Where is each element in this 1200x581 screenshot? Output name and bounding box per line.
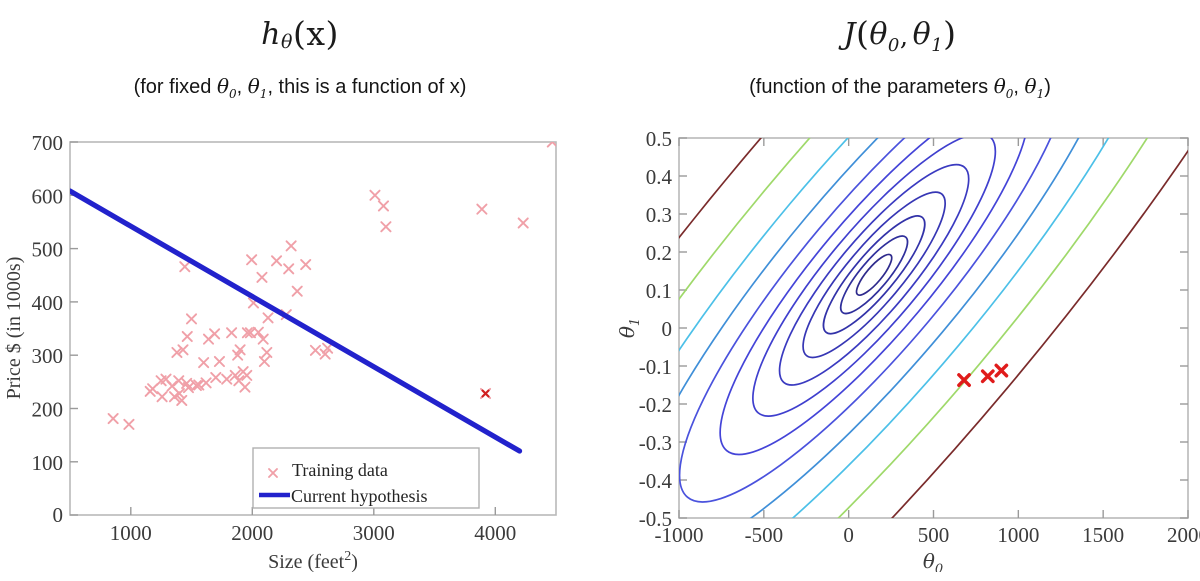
training-data-point: [187, 314, 196, 323]
training-data-point: [370, 191, 379, 200]
left-panel: hθ(x) (for fixed θ0, θ1, this is a funct…: [0, 0, 600, 581]
current-hypothesis-line: [70, 191, 520, 451]
left-ytick-100: 100: [32, 451, 64, 475]
training-data-point: [227, 328, 236, 337]
training-data-point: [477, 205, 486, 214]
left-x-axis: 1000 2000 3000 4000 Size (feet2): [110, 507, 517, 572]
contour-level-8: [633, 112, 1116, 543]
gradient-descent-marker: [983, 371, 993, 381]
training-data-point: [211, 373, 220, 382]
contour-level-9: [600, 112, 1180, 572]
training-data-point: [381, 222, 390, 231]
training-data-point: [215, 357, 224, 366]
left-ytick-400: 400: [32, 291, 64, 315]
gradient-descent-markers: [959, 365, 1007, 385]
right-xtick-1000: 1000: [997, 523, 1039, 547]
training-data-point: [210, 329, 219, 338]
contour-level-3: [810, 204, 937, 345]
left-xtick-2000: 2000: [231, 521, 273, 545]
training-data-point: [240, 383, 249, 392]
training-data-point-highlighted: [483, 391, 489, 397]
right-plot-frame: [679, 138, 1188, 518]
training-data-point: [293, 287, 302, 296]
contour-level-5: [756, 144, 993, 406]
left-xtick-3000: 3000: [353, 521, 395, 545]
left-x-axis-title: Size (feet2): [268, 549, 358, 572]
training-data-point: [263, 313, 272, 322]
left-legend: Training data Current hypothesis: [253, 448, 479, 508]
right-ytick-neg0p4: -0.4: [639, 469, 673, 493]
right-ytick-0p2: 0.2: [646, 241, 672, 265]
left-chart-svg: 700 600 500 400 300 200 100 0 Price $ (i…: [0, 112, 600, 572]
contour-level-6: [723, 112, 1026, 443]
left-title-arg: (x): [293, 14, 339, 53]
right-panel: J(θ0,θ1) (function of the parameters θ0,…: [600, 0, 1200, 581]
legend-label-0: Training data: [292, 460, 388, 480]
training-data-point: [199, 358, 208, 367]
right-plot-data: [600, 112, 1200, 572]
left-ytick-200: 200: [32, 398, 64, 422]
contour-lines: [600, 112, 1200, 572]
training-data-point: [247, 255, 256, 264]
left-panel-subtitle: (for fixed θ0, θ1, this is a function of…: [0, 74, 600, 101]
training-data-point: [262, 348, 271, 357]
left-panel-title: hθ(x): [0, 14, 600, 53]
training-data-point: [272, 256, 281, 265]
left-title-fn: h: [261, 17, 281, 52]
training-data-point: [379, 201, 388, 210]
right-ytick-neg0p1: -0.1: [639, 355, 672, 379]
right-subtitle-tail: ): [1044, 76, 1051, 98]
legend-label-1: Current hypothesis: [291, 486, 428, 506]
right-title-close: ): [943, 14, 956, 53]
right-xtick-neg500: -500: [745, 523, 784, 547]
left-xtick-1000: 1000: [110, 521, 152, 545]
right-subtitle-pre: (function of the parameters: [749, 76, 994, 98]
left-ytick-700: 700: [32, 131, 64, 155]
subtitle-comma: ,: [237, 76, 248, 98]
right-panel-subtitle: (function of the parameters θ0, θ1): [600, 74, 1200, 101]
right-y-axis-title: θ1: [615, 318, 643, 338]
training-data-point: [519, 218, 528, 227]
training-data-points: [109, 137, 557, 429]
left-subtitle-pre: (for fixed: [134, 76, 217, 98]
right-xtick-500: 500: [918, 523, 950, 547]
training-data-point: [222, 375, 231, 384]
training-data-point: [183, 332, 192, 341]
right-x-axis-title: θ0: [923, 549, 943, 572]
right-title-fn: J: [843, 17, 856, 52]
right-xtick-neg1000: -1000: [655, 523, 704, 547]
training-data-point: [260, 357, 269, 366]
training-data-point: [301, 260, 310, 269]
left-y-axis-title: Price $ (in 1000s): [3, 257, 25, 400]
left-ytick-600: 600: [32, 184, 64, 208]
training-data-point: [157, 392, 166, 401]
right-ytick-0p3: 0.3: [646, 203, 672, 227]
gradient-descent-marker: [959, 375, 969, 385]
right-ytick-neg0p2: -0.2: [639, 393, 672, 417]
training-data-point: [124, 420, 133, 429]
gradient-descent-marker: [996, 365, 1006, 375]
left-ytick-0: 0: [53, 503, 64, 527]
right-ytick-0: 0: [662, 317, 673, 341]
left-ytick-500: 500: [32, 238, 64, 262]
right-ytick-0p1: 0.1: [646, 279, 672, 303]
right-title-t1: θ1: [913, 17, 944, 52]
right-subtitle-comma: ,: [1013, 76, 1024, 98]
left-subtitle-mid: , this is a function of x): [267, 76, 466, 98]
training-data-point: [311, 346, 320, 355]
right-title-comma: ,: [900, 22, 909, 52]
training-data-point: [180, 262, 189, 271]
right-ytick-0p4: 0.4: [646, 165, 673, 189]
training-data-point: [284, 264, 293, 273]
left-xtick-4000: 4000: [474, 521, 516, 545]
theta0-symbol: θ0: [217, 74, 237, 98]
left-y-axis: 700 600 500 400 300 200 100 0 Price $ (i…: [3, 131, 78, 527]
training-data-point: [109, 414, 118, 423]
left-ytick-300: 300: [32, 344, 64, 368]
right-title-t0: θ0: [869, 17, 900, 52]
right-panel-title: J(θ0,θ1): [600, 14, 1200, 56]
training-data-point: [174, 376, 183, 385]
contour-level-1: [852, 250, 897, 299]
right-ytick-neg0p3: -0.3: [639, 431, 672, 455]
right-theta0-symbol: θ0: [994, 74, 1014, 98]
theta1-symbol: θ1: [248, 74, 268, 98]
training-data-point: [257, 273, 266, 282]
left-plot-data: [70, 137, 557, 451]
right-title-open: (: [856, 14, 869, 53]
training-data-point: [287, 241, 296, 250]
left-title-sub: θ: [281, 31, 293, 53]
right-chart-svg: -0.5-0.4-0.3-0.2-0.100.10.20.30.40.5 -10…: [600, 112, 1200, 572]
training-data-point: [201, 378, 210, 387]
right-ytick-0p5: 0.5: [646, 127, 672, 151]
right-theta1-symbol: θ1: [1025, 74, 1045, 98]
right-xtick-1500: 1500: [1082, 523, 1124, 547]
right-xtick-0: 0: [843, 523, 854, 547]
contour-level-2: [832, 228, 917, 321]
right-xtick-2000: 2000: [1167, 523, 1200, 547]
